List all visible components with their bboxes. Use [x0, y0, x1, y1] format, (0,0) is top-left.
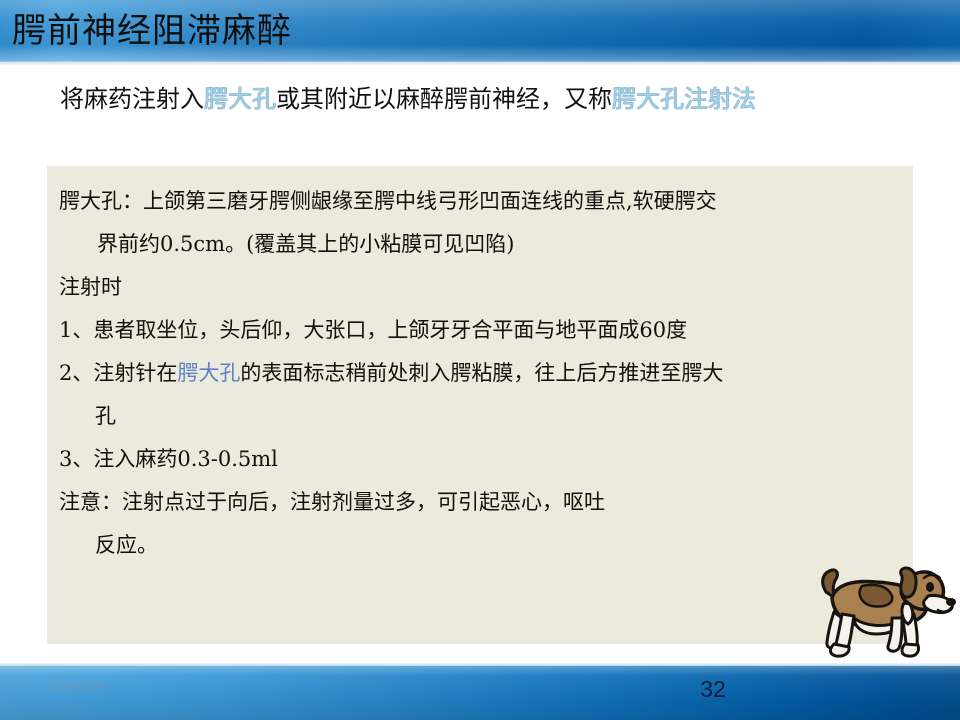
slide-footer-bar — [0, 666, 960, 720]
subtitle-text-part-1: 将麻药注射入 — [60, 85, 204, 113]
content-line-step-2-continued: 孔 — [59, 395, 901, 438]
step-2-text-part-1: 2、注射针在 — [59, 361, 177, 385]
subtitle-highlight-injection-method-b: 孔注射法 — [660, 85, 756, 113]
dog-illustration — [806, 556, 960, 662]
subtitle-text-part-2: 或其附近以麻醉腭前神经，又称 — [276, 85, 612, 113]
content-line-injection-heading: 注射时 — [59, 266, 901, 309]
slide-subtitle: 将麻药注射入腭大孔或其附近以麻醉腭前神经，又称腭大孔注射法 — [60, 80, 910, 118]
footer-gloss-overlay — [0, 666, 960, 720]
slide-header-bar: 腭前神经阻滞麻醉 — [0, 0, 960, 62]
content-line-step-3: 3、注入麻药0.3-0.5ml — [59, 438, 901, 481]
page-number: 32 — [690, 674, 736, 704]
page-title: 腭前神经阻滞麻醉 — [12, 9, 292, 53]
content-line-caution-continued: 反应。 — [59, 524, 901, 567]
content-line-landmark-2: 界前约0.5cm。(覆盖其上的小粘膜可见凹陷) — [59, 223, 901, 266]
footer-date: 2024/12/8 — [50, 678, 106, 694]
header-underline-divider — [0, 62, 960, 66]
step-2-text-part-2: 的表面标志稍前处刺入腭粘膜，往上后方推进至腭大 — [240, 361, 723, 385]
content-line-caution: 注意：注射点过于向后，注射剂量过多，可引起恶心，呕吐 — [59, 481, 901, 524]
subtitle-highlight-greater-palatine-foramen: 腭大孔 — [204, 85, 276, 113]
content-text-box: 腭大孔：上颌第三磨牙腭侧龈缘至腭中线弓形凹面连线的重点,软硬腭交 界前约0.5c… — [47, 166, 913, 644]
subtitle-highlight-injection-method-a: 腭大 — [612, 85, 660, 113]
content-line-landmark-1: 腭大孔：上颌第三磨牙腭侧龈缘至腭中线弓形凹面连线的重点,软硬腭交 — [59, 180, 901, 223]
content-line-step-2: 2、注射针在腭大孔的表面标志稍前处刺入腭粘膜，往上后方推进至腭大 — [59, 352, 901, 395]
content-line-step-1: 1、患者取坐位，头后仰，大张口，上颌牙牙合平面与地平面成60度 — [59, 309, 901, 352]
step-2-highlight-greater-palatine-foramen: 腭大孔 — [177, 361, 240, 385]
